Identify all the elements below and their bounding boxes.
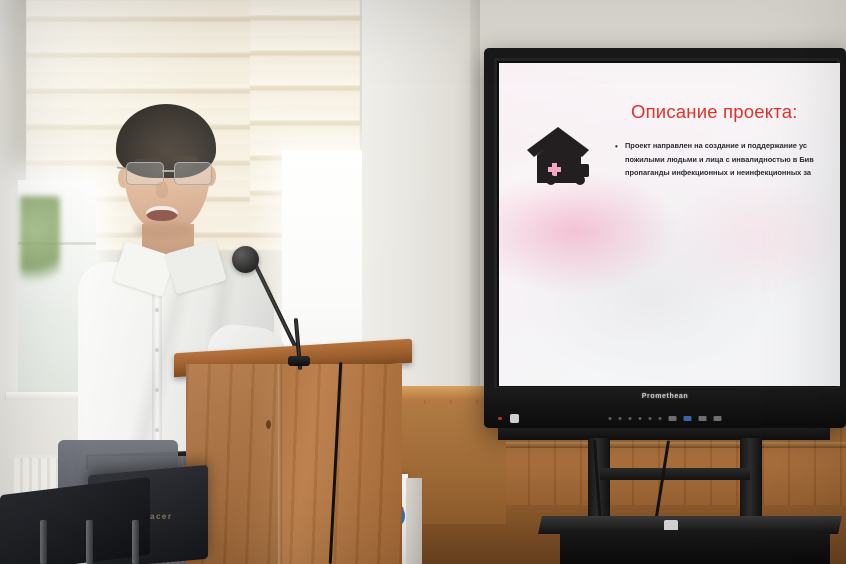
monitor-stand-post [86,520,93,564]
microphone-head[interactable] [232,246,259,273]
outdoor-foliage [20,196,60,292]
eyeglass-bridge [162,170,174,172]
display-screen[interactable]: Описание проекта: • Проект направлен на … [499,63,840,386]
display-stand-foot [560,530,830,564]
control-dot[interactable] [619,417,622,420]
display-stand-crossbar [600,468,750,480]
upper-right-wall [480,0,846,46]
shirt-placket [152,272,162,468]
bag-side-panel [406,478,422,564]
shirt-button [155,428,159,432]
podium-corner-edge [278,364,282,564]
podium-knob [266,420,271,429]
hdmi-port[interactable] [669,416,677,421]
display-bottom-bezel: Promethean [484,388,846,428]
display-control-strip[interactable] [609,416,722,421]
house-with-ambulance-icon [525,125,597,187]
control-dot[interactable] [629,417,632,420]
slide-body-line-3: пропаганды инфекционных и неинфекционных… [625,166,840,180]
display-power-button[interactable] [510,414,519,423]
audio-port[interactable] [699,416,707,421]
control-dot[interactable] [659,417,662,420]
acer-logo: acer [150,512,172,521]
monitor-stand-post [132,520,139,564]
presenter-mouth [146,206,178,221]
slide-body-line-1: Проект направлен на создание и поддержан… [625,139,840,153]
eyeglasses-icon [124,162,214,184]
presenter-nose [156,182,168,198]
slide-title: Описание проекта: [631,101,836,123]
display-stand-top-rail [498,428,830,440]
shirt-button [155,348,159,352]
presenter-chin-shadow [134,222,194,238]
slide-body: • Проект направлен на создание и поддерж… [625,139,840,180]
shirt-button [155,308,159,312]
monitor-stand-post [40,520,47,564]
display-bezel: Описание проекта: • Проект направлен на … [494,58,840,390]
control-dot[interactable] [649,417,652,420]
slide-bullet-marker: • [615,140,618,154]
presentation-photo: Описание проекта: • Проект направлен на … [0,0,846,564]
microphone-base [288,356,310,366]
interactive-display[interactable]: Описание проекта: • Проект направлен на … [484,48,846,428]
eyeglass-lens-right [174,162,212,185]
aux-port[interactable] [714,416,722,421]
control-dot[interactable] [639,417,642,420]
pillar-edge [470,0,480,430]
promethean-brand-logo: Promethean [484,393,846,400]
shirt-button [155,388,159,392]
control-dot[interactable] [609,417,612,420]
display-status-led [498,417,502,420]
slide-body-line-2: пожилыми людьми и лица с инвалидностью в… [625,153,840,167]
usb-port[interactable] [684,416,692,421]
